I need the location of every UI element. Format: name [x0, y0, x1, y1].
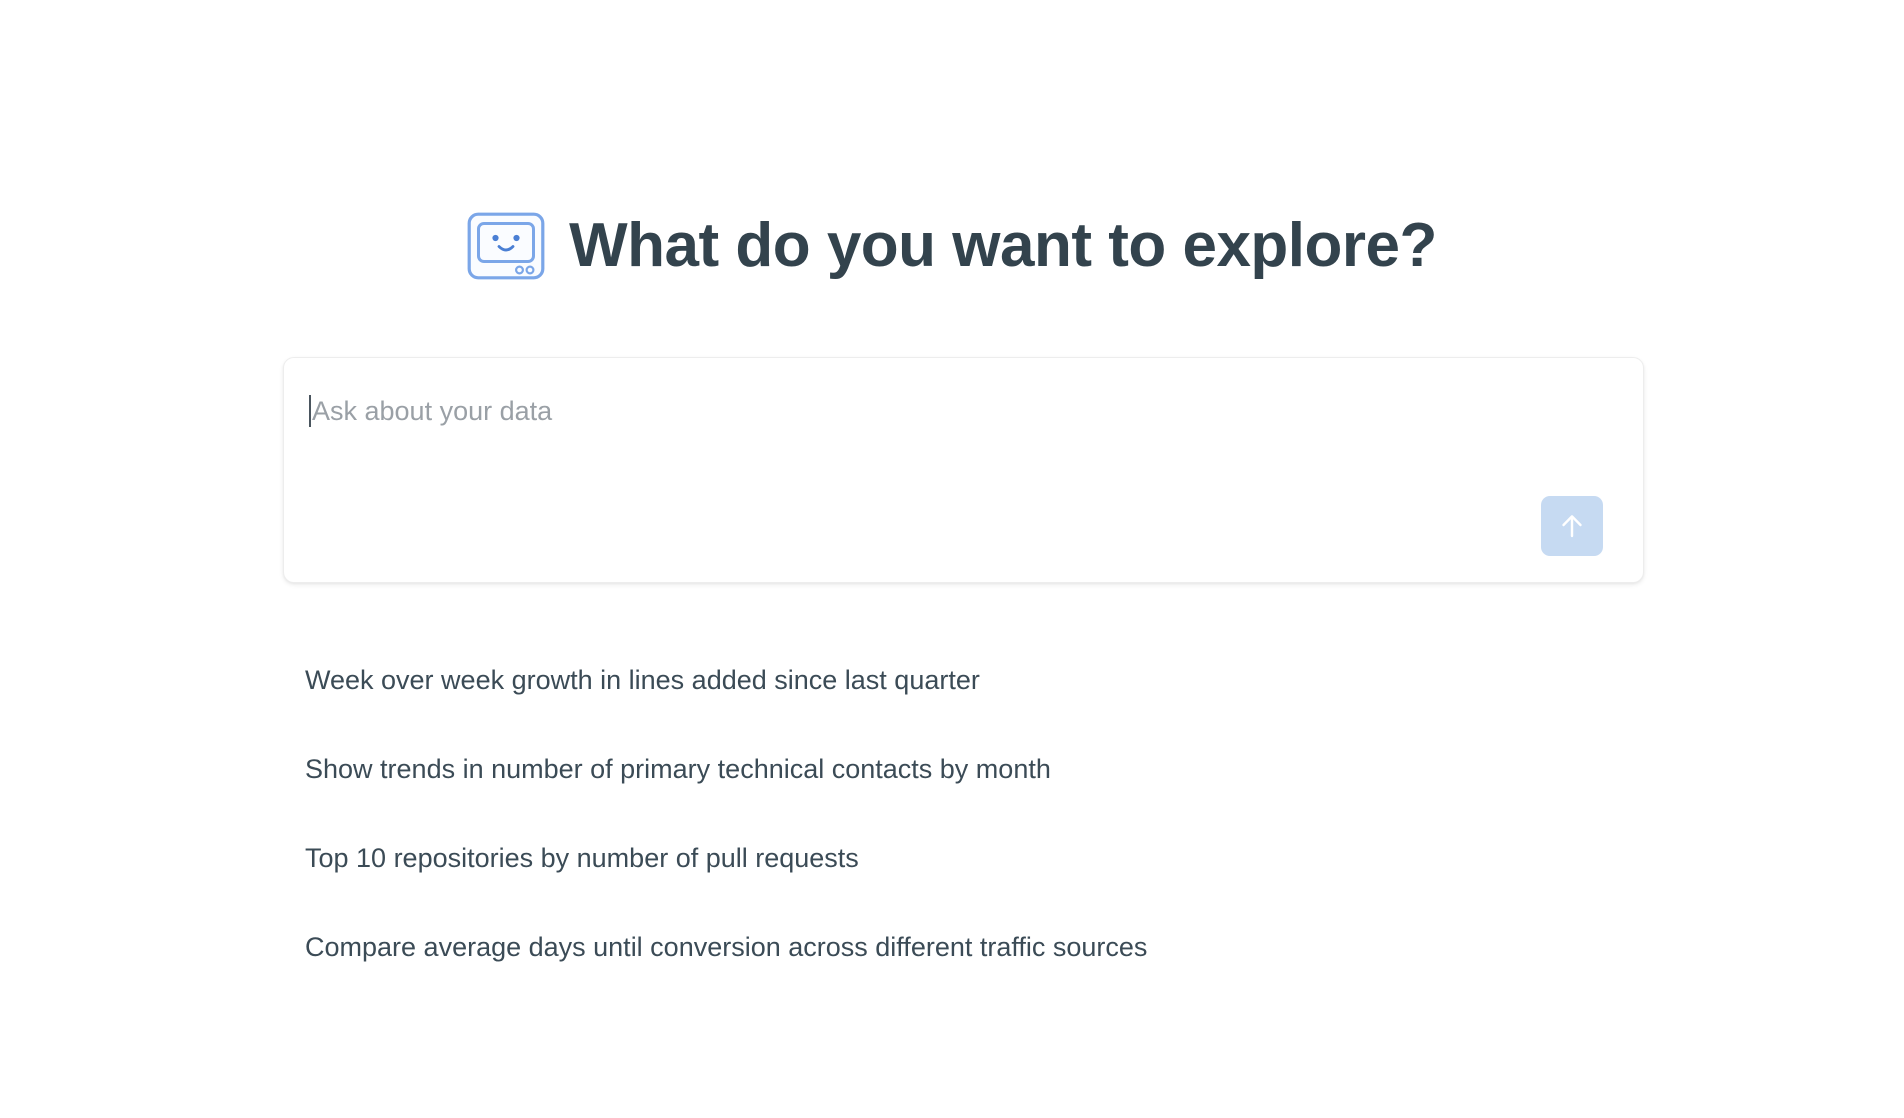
prompt-placeholder: Ask about your data	[312, 394, 552, 428]
prompt-input-box[interactable]: Ask about your data	[283, 357, 1644, 583]
page-header: What do you want to explore?	[0, 212, 1904, 280]
prompt-input-row[interactable]: Ask about your data	[309, 394, 1618, 428]
suggestion-list: Week over week growth in lines added sin…	[305, 635, 1705, 991]
arrow-up-icon	[1555, 509, 1589, 543]
suggestion-item[interactable]: Week over week growth in lines added sin…	[305, 635, 1705, 724]
page-title: What do you want to explore?	[569, 213, 1437, 278]
text-caret	[309, 395, 311, 427]
smiling-monitor-bot-icon	[467, 212, 545, 280]
suggestion-label: Top 10 repositories by number of pull re…	[305, 841, 859, 875]
explore-page: What do you want to explore? Ask about y…	[0, 0, 1904, 1118]
suggestion-label: Show trends in number of primary technic…	[305, 752, 1051, 786]
suggestion-item[interactable]: Compare average days until conversion ac…	[305, 902, 1705, 991]
suggestion-label: Week over week growth in lines added sin…	[305, 663, 980, 697]
send-button[interactable]	[1541, 496, 1603, 556]
suggestion-label: Compare average days until conversion ac…	[305, 930, 1147, 964]
suggestion-item[interactable]: Top 10 repositories by number of pull re…	[305, 813, 1705, 902]
suggestion-item[interactable]: Show trends in number of primary technic…	[305, 724, 1705, 813]
